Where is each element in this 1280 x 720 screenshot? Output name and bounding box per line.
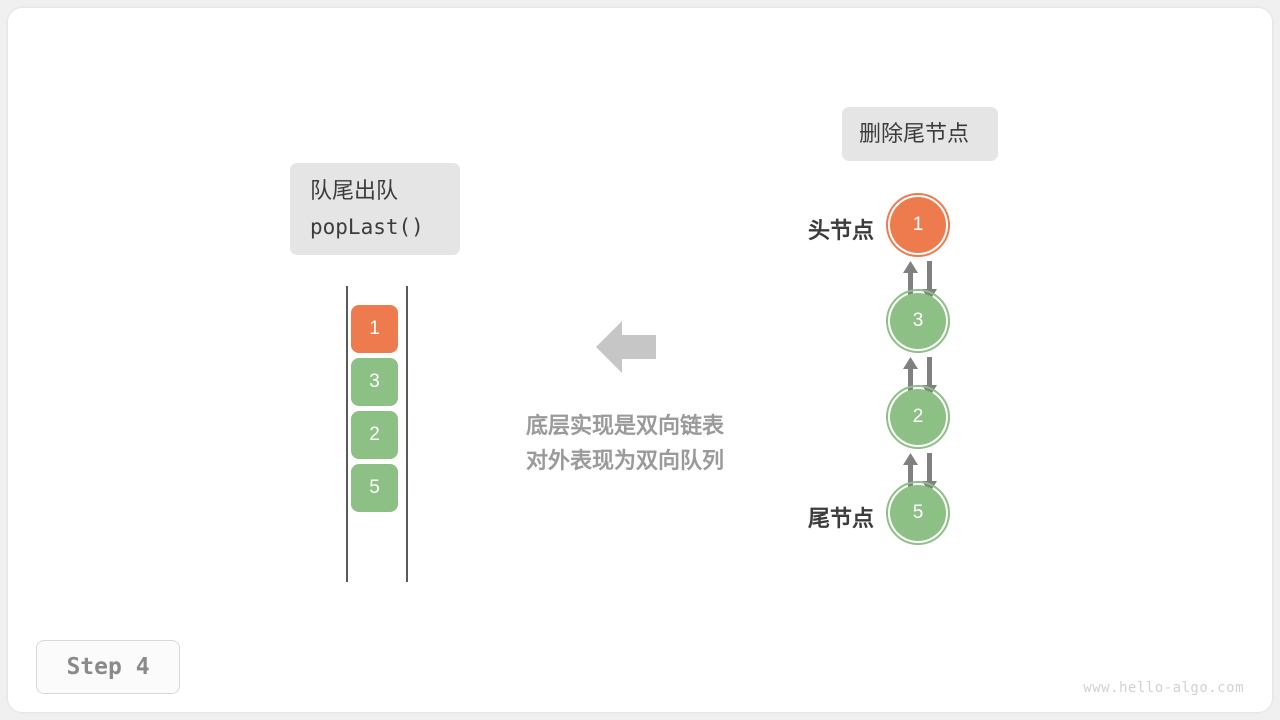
list-node-value: 5 bbox=[913, 502, 924, 524]
queue-operation-code: popLast() bbox=[310, 209, 424, 245]
queue-rail-left bbox=[346, 286, 348, 582]
list-node-value: 2 bbox=[913, 406, 924, 428]
operation-label-text: 删除尾节点 bbox=[859, 116, 969, 152]
caption-line-2: 对外表现为双向队列 bbox=[470, 443, 780, 478]
queue-cell: 5 bbox=[351, 464, 398, 512]
tail-node-label: 尾节点 bbox=[770, 501, 874, 533]
queue-cell-value: 1 bbox=[369, 318, 380, 340]
watermark: www.hello-algo.com bbox=[1083, 680, 1244, 696]
queue-container: 1 3 2 5 bbox=[340, 286, 412, 582]
queue-cell: 2 bbox=[351, 411, 398, 459]
list-node-value: 1 bbox=[913, 214, 924, 236]
left-arrow-icon bbox=[596, 318, 656, 376]
operation-label-chip: 删除尾节点 bbox=[842, 107, 998, 161]
queue-cell-value: 5 bbox=[369, 477, 380, 499]
center-caption: 底层实现是双向链表 对外表现为双向队列 bbox=[470, 408, 780, 478]
list-node: 1 bbox=[890, 197, 946, 253]
queue-cell-value: 2 bbox=[369, 424, 380, 446]
queue-rail-right bbox=[406, 286, 408, 582]
queue-cell: 1 bbox=[351, 305, 398, 353]
caption-line-1: 底层实现是双向链表 bbox=[470, 408, 780, 443]
list-node: 2 bbox=[890, 389, 946, 445]
list-node-value: 3 bbox=[913, 310, 924, 332]
list-node: 3 bbox=[890, 293, 946, 349]
head-node-label: 头节点 bbox=[770, 213, 874, 245]
diagram-canvas: 删除尾节点 队尾出队 popLast() 1 3 2 5 底层实现是双向链表 对… bbox=[0, 0, 1280, 720]
queue-operation-cn: 队尾出队 bbox=[310, 173, 398, 209]
queue-operation-chip: 队尾出队 popLast() bbox=[290, 163, 460, 255]
queue-cell: 3 bbox=[351, 358, 398, 406]
linked-list-container: 头节点 尾节点 1 3 bbox=[770, 190, 1000, 550]
list-node: 5 bbox=[890, 485, 946, 541]
queue-cell-value: 3 bbox=[369, 371, 380, 393]
step-badge: Step 4 bbox=[36, 640, 180, 694]
